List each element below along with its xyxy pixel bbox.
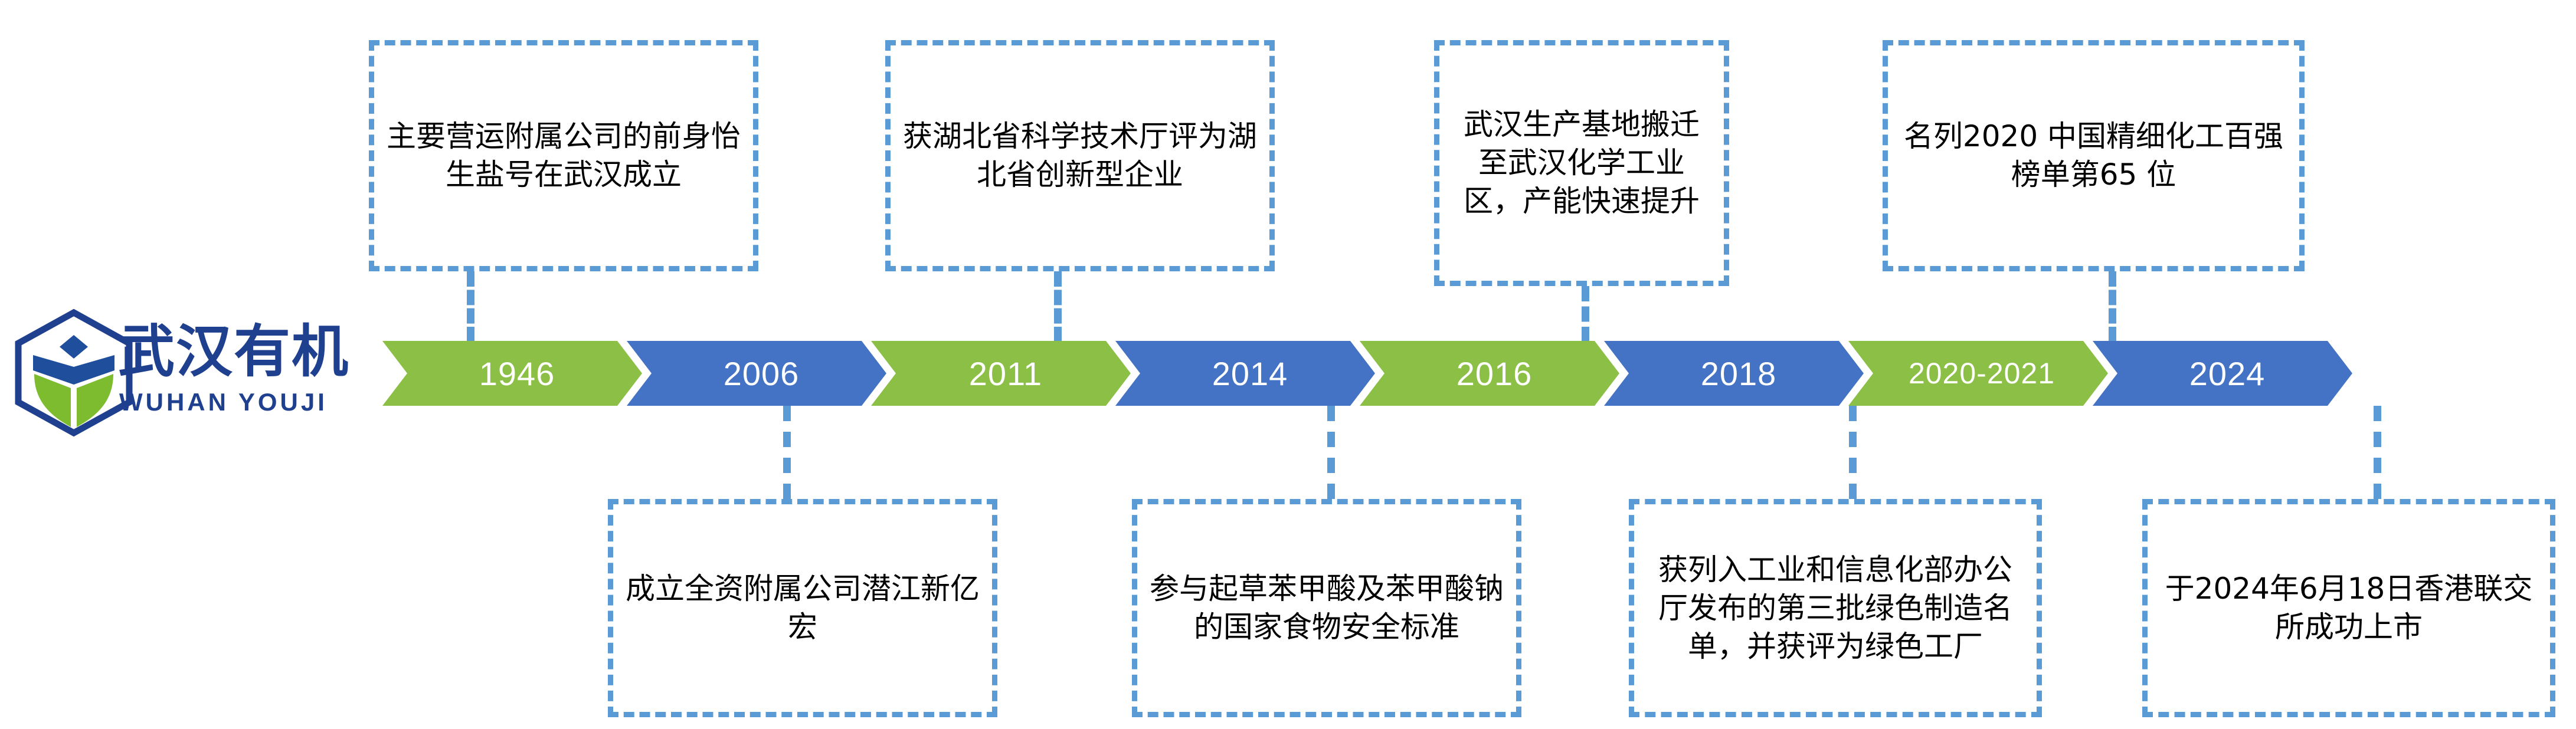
callout-text: 获湖北省科学技术厅评为湖北省创新型企业 — [901, 117, 1259, 194]
timeline-chevron-2024[interactable]: 2024 — [2093, 341, 2352, 406]
company-logo: 武汉有机 WUHAN YOUJI — [6, 304, 360, 440]
logo-wordmark: 武汉有机 WUHAN YOUJI — [118, 322, 354, 428]
hexagon-leaf-logo-icon — [12, 309, 136, 436]
timeline-infographic: 武汉有机 WUHAN YOUJI 主要营运附属公司的前身怡生盐号在武汉成立 获湖… — [0, 0, 2576, 729]
timeline-chevron-2014[interactable]: 2014 — [1115, 341, 1375, 406]
callout-text: 于2024年6月18日香港联交所成功上市 — [2158, 570, 2539, 646]
timeline-chevron-2011[interactable]: 2011 — [871, 341, 1131, 406]
timeline-chevron-2016[interactable]: 2016 — [1360, 341, 1619, 406]
callout-text: 主要营运附属公司的前身怡生盐号在武汉成立 — [385, 117, 742, 194]
callout-bottom-2024: 于2024年6月18日香港联交所成功上市 — [2142, 499, 2555, 717]
callout-top-2011: 获湖北省科学技术厅评为湖北省创新型企业 — [885, 40, 1275, 271]
callout-top-2020-2021: 名列2020 中国精细化工百强榜单第65 位 — [1883, 40, 2305, 271]
chevron-year-label: 2020-2021 — [1909, 356, 2055, 390]
connector-1946 — [467, 271, 474, 342]
timeline-chevron-2020-2021[interactable]: 2020-2021 — [1848, 341, 2108, 406]
connector-2016 — [1582, 286, 1589, 342]
chevron-year-label: 2018 — [1701, 354, 1777, 393]
callout-text: 获列入工业和信息化部办公厅发布的第三批绿色制造名单，并获评为绿色工厂 — [1645, 551, 2026, 666]
callout-text: 成立全资附属公司潜江新亿宏 — [624, 570, 981, 646]
timeline-chevron-1946[interactable]: 1946 — [382, 341, 642, 406]
callout-top-2016: 武汉生产基地搬迁至武汉化学工业区，产能快速提升 — [1434, 40, 1729, 286]
logo-name-en: WUHAN YOUJI — [119, 388, 328, 416]
callout-bottom-2014: 参与起草苯甲酸及苯甲酸钠的国家食物安全标准 — [1132, 499, 1521, 717]
chevron-year-label: 2016 — [1456, 354, 1533, 393]
connector-2018 — [1849, 406, 1857, 499]
connector-2006 — [783, 406, 791, 499]
callout-text: 名列2020 中国精细化工百强榜单第65 位 — [1899, 117, 2289, 194]
chevron-year-label: 2011 — [969, 354, 1042, 393]
callout-bottom-2006: 成立全资附属公司潜江新亿宏 — [608, 499, 997, 717]
callout-top-1946: 主要营运附属公司的前身怡生盐号在武汉成立 — [369, 40, 758, 271]
chevron-year-label: 2006 — [724, 354, 800, 393]
logo-name-cn: 武汉有机 — [118, 322, 349, 382]
timeline-chevron-2006[interactable]: 2006 — [627, 341, 886, 406]
chevron-year-label: 1946 — [479, 354, 555, 393]
connector-2020-2021 — [2109, 271, 2116, 342]
chevron-year-label: 2024 — [2189, 354, 2266, 393]
callout-text: 武汉生产基地搬迁至武汉化学工业区，产能快速提升 — [1450, 106, 1713, 221]
connector-2024 — [2374, 406, 2381, 499]
callout-bottom-2018: 获列入工业和信息化部办公厅发布的第三批绿色制造名单，并获评为绿色工厂 — [1629, 499, 2042, 717]
callout-text: 参与起草苯甲酸及苯甲酸钠的国家食物安全标准 — [1148, 570, 1505, 646]
chevron-year-label: 2014 — [1212, 354, 1288, 393]
connector-2011 — [1054, 271, 1062, 342]
timeline-chevron-2018[interactable]: 2018 — [1604, 341, 1864, 406]
timeline-arrow-band: 1946 2006 2011 2014 2016 2018 2020-2021 … — [382, 341, 2337, 406]
connector-2014 — [1327, 406, 1335, 499]
